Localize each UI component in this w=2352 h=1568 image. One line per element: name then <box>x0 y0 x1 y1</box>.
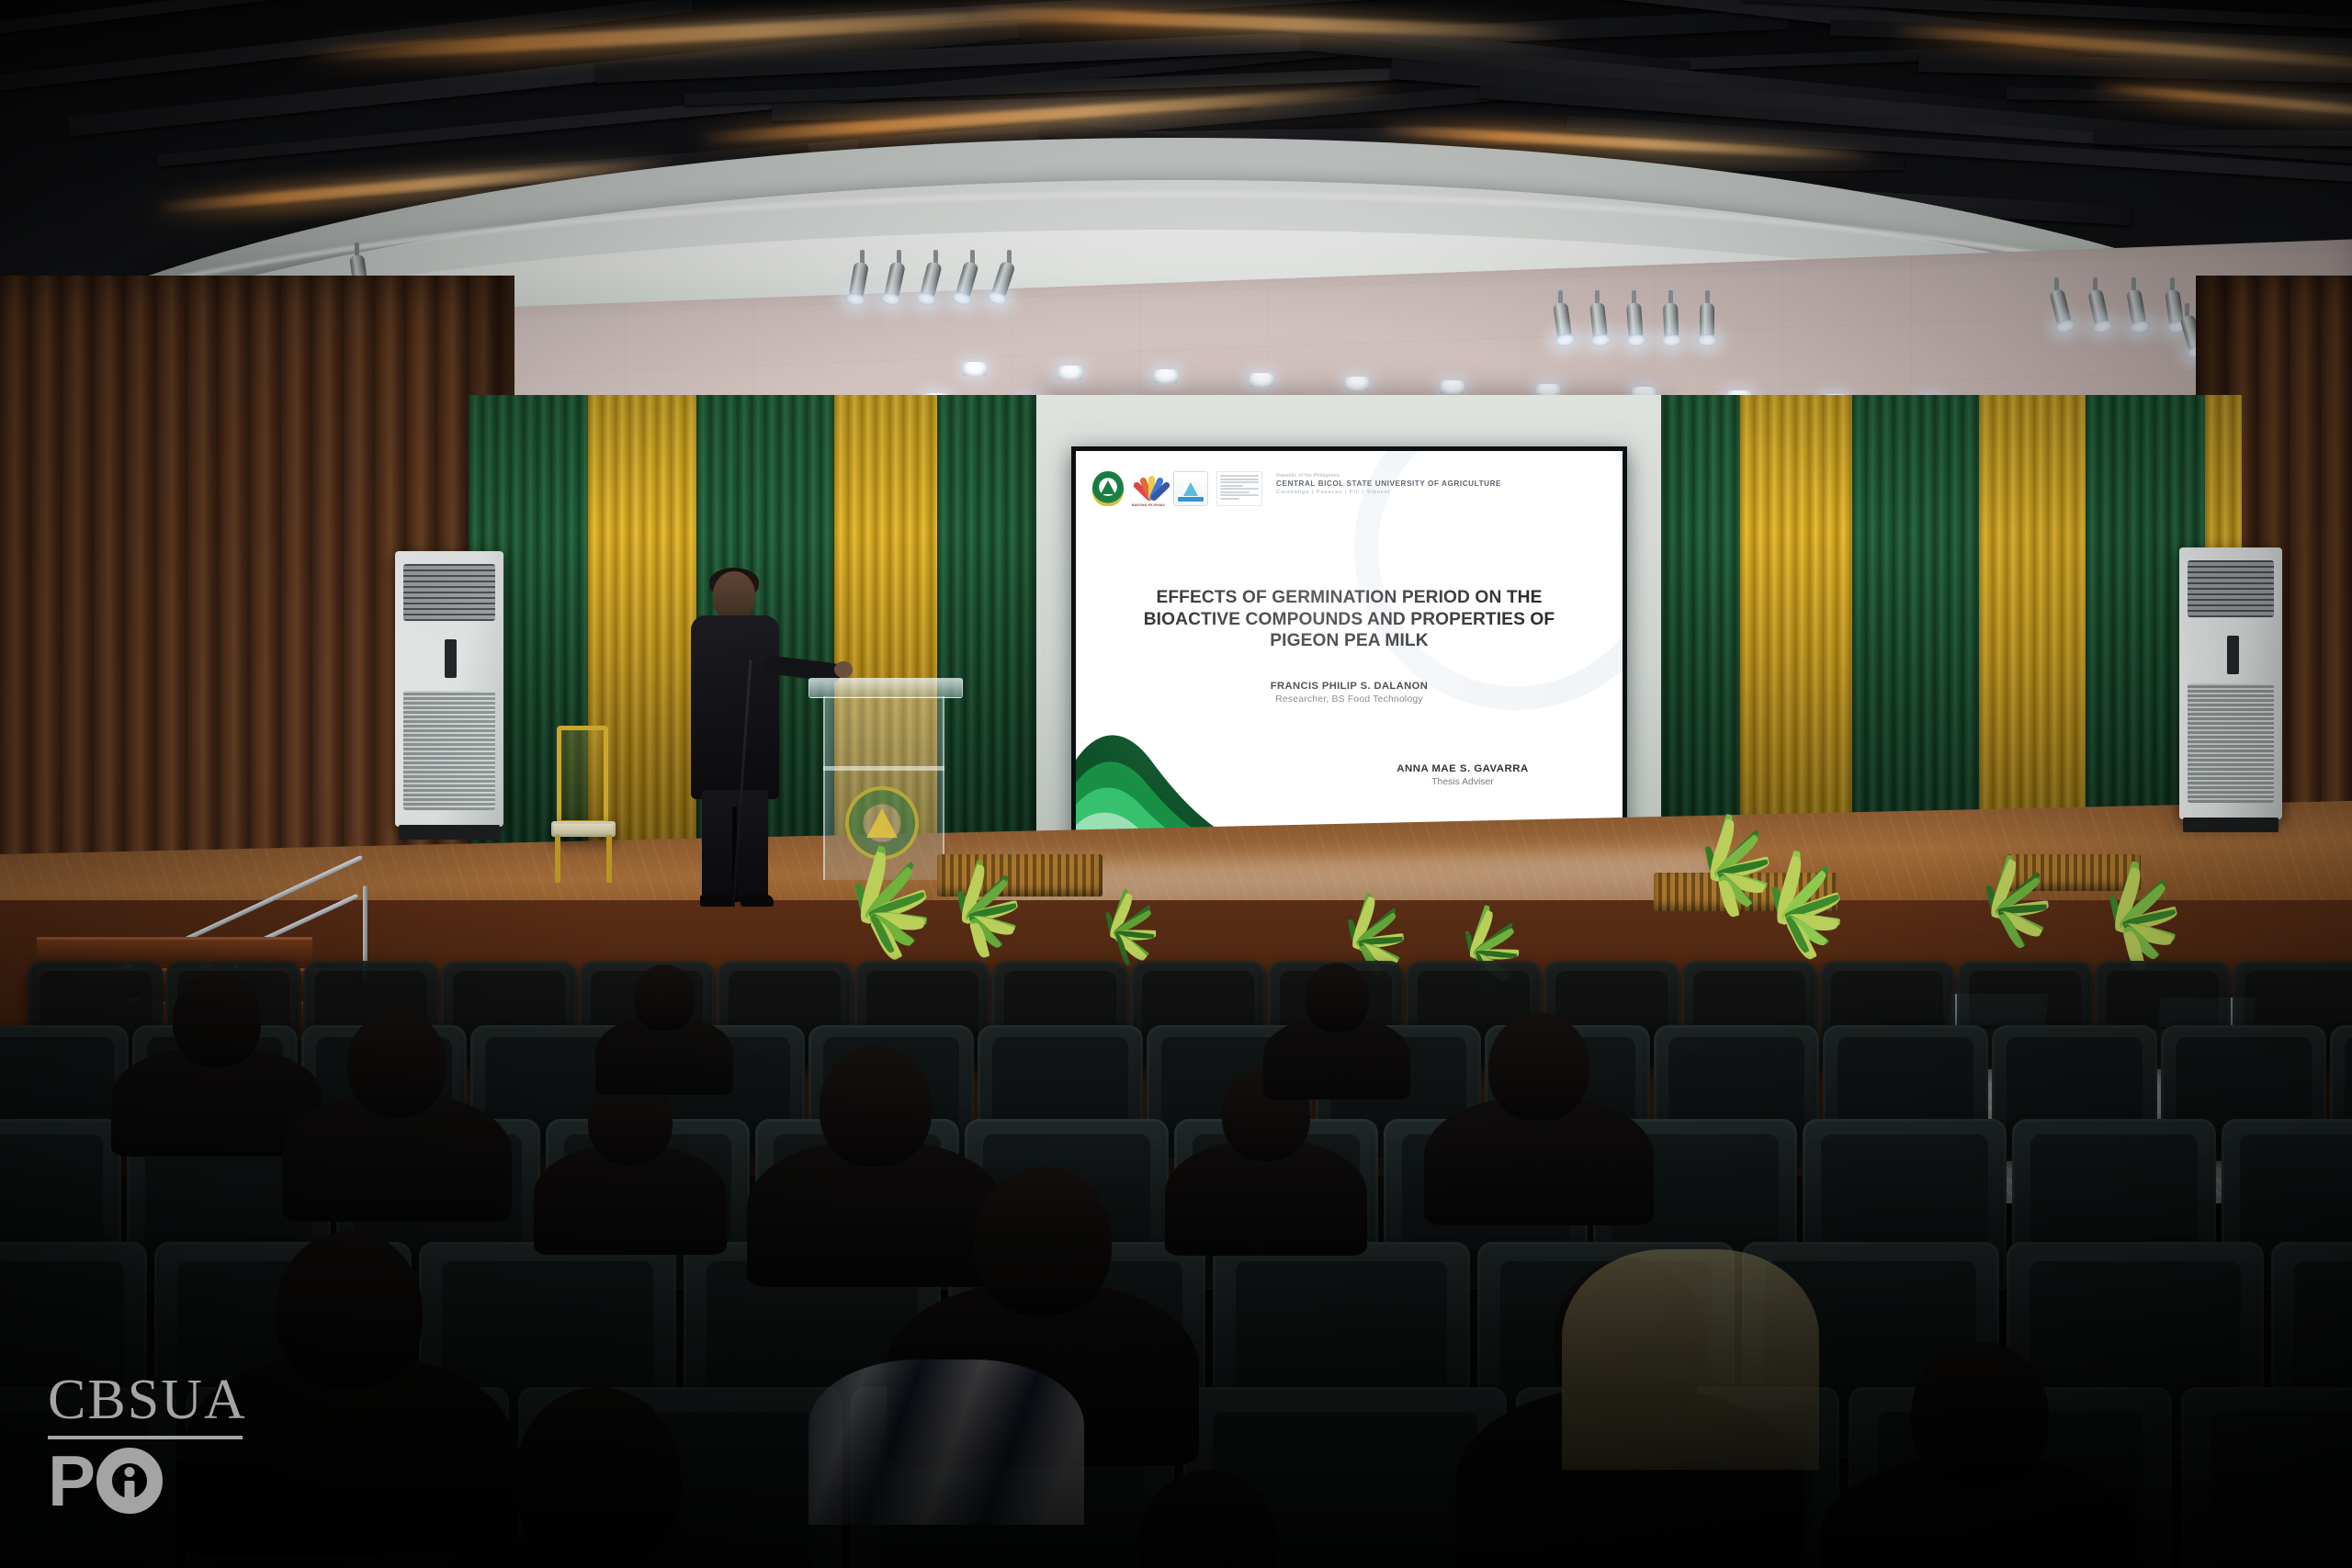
university-seal-icon <box>1092 471 1124 506</box>
chair-backrest <box>557 726 608 825</box>
potted-plant <box>1433 878 1521 959</box>
chair-seat <box>551 821 616 837</box>
potted-plant <box>1314 863 1408 950</box>
potted-plant <box>1075 863 1158 940</box>
researcher-role: Researcher, BS Food Technology <box>1076 694 1623 705</box>
ac-base <box>399 825 500 840</box>
presenter-hand <box>834 661 853 678</box>
podium-lectern-top <box>808 678 963 698</box>
audience-head <box>1488 1012 1589 1121</box>
ceiling-downlight <box>1345 377 1369 390</box>
audience-clothing <box>808 1359 1084 1525</box>
auditorium-scene: BAGONG PILIPINAS Republic of the Philipp… <box>0 0 2352 1568</box>
adviser-name: ANNA MAE S. GAVARRA <box>1343 763 1582 774</box>
slide-campus-list: Calabanga | Pasacao | Pili | Sipocot <box>1276 490 1501 495</box>
audience-head <box>974 1167 1112 1315</box>
potted-plant <box>1948 823 2052 919</box>
auditorium-seat[interactable] <box>2181 1387 2352 1568</box>
audience-head <box>634 964 695 1031</box>
potted-plant <box>1727 814 1849 925</box>
projection-screen[interactable]: BAGONG PILIPINAS Republic of the Philipp… <box>1071 446 1627 859</box>
track-spotlight[interactable] <box>1663 303 1679 341</box>
slide-adviser-block: ANNA MAE S. GAVARRA Thesis Adviser <box>1343 763 1582 787</box>
potted-plant <box>808 808 935 925</box>
ceiling-downlight <box>1249 373 1273 387</box>
floor-standing-air-conditioner-left <box>395 551 503 827</box>
audience-head <box>1911 1341 2049 1488</box>
ac-base <box>2183 818 2278 832</box>
gold-tiffany-chair[interactable] <box>551 726 616 882</box>
researcher-name: FRANCIS PHILIP S. DALANON <box>1076 681 1623 692</box>
ceiling-downlight <box>963 362 987 376</box>
potted-plant <box>2067 827 2183 933</box>
track-spotlight[interactable] <box>1700 303 1714 340</box>
presentation-slide: BAGONG PILIPINAS Republic of the Philipp… <box>1076 451 1623 854</box>
audience-head <box>173 972 261 1067</box>
audience-head <box>820 1045 932 1167</box>
ceiling-downlight <box>1154 369 1178 383</box>
bagong-pilipinas-caption: BAGONG PILIPINAS <box>1132 503 1165 507</box>
podium-shelf <box>823 766 944 771</box>
slide-researcher-block: FRANCIS PHILIP S. DALANON Researcher, BS… <box>1076 681 1623 705</box>
audience-clothing <box>1562 1249 1819 1470</box>
chair-leg <box>555 835 560 883</box>
audience-head <box>347 1010 447 1117</box>
seat-cushion <box>2211 1412 2352 1568</box>
presenter-shoe <box>741 895 774 907</box>
ac-top-grille <box>2188 560 2274 617</box>
slide-republic-line: Republic of the Philippines <box>1276 473 1501 479</box>
iso-triangle-icon <box>1173 471 1208 506</box>
presenter-suit-jacket <box>691 615 779 799</box>
slide-university-name: CENTRAL BICOL STATE UNIVERSITY OF AGRICU… <box>1276 479 1501 488</box>
audience-head <box>276 1231 423 1389</box>
slide-header: BAGONG PILIPINAS Republic of the Philipp… <box>1092 471 1606 506</box>
audience-head <box>514 1387 682 1567</box>
auditorium-seating <box>0 955 2352 1568</box>
chair-leg <box>606 835 612 883</box>
ceiling-downlight <box>1058 366 1082 379</box>
track-spotlight[interactable] <box>1626 302 1644 340</box>
sunburst-icon: BAGONG PILIPINAS <box>1132 471 1165 506</box>
floor-standing-air-conditioner-right <box>2179 547 2282 819</box>
ac-display-panel[interactable] <box>2227 636 2239 674</box>
seat-cushion <box>0 1412 147 1568</box>
ceiling-downlight <box>1441 380 1464 394</box>
ac-display-panel[interactable] <box>445 639 457 678</box>
presenter-head <box>713 571 755 621</box>
presenter-shoe <box>700 895 733 907</box>
certificate-text-icon <box>1216 471 1262 506</box>
audience-head <box>1305 963 1369 1032</box>
slide-title: EFFECTS OF GERMINATION PERIOD ON THE BIO… <box>1107 587 1591 652</box>
adviser-role: Thesis Adviser <box>1343 777 1582 787</box>
ac-bottom-grille <box>2188 683 2274 803</box>
ac-bottom-grille <box>403 691 495 810</box>
auditorium-seat[interactable] <box>0 1387 176 1568</box>
potted-plant <box>919 829 1023 925</box>
ac-top-grille <box>403 564 495 621</box>
